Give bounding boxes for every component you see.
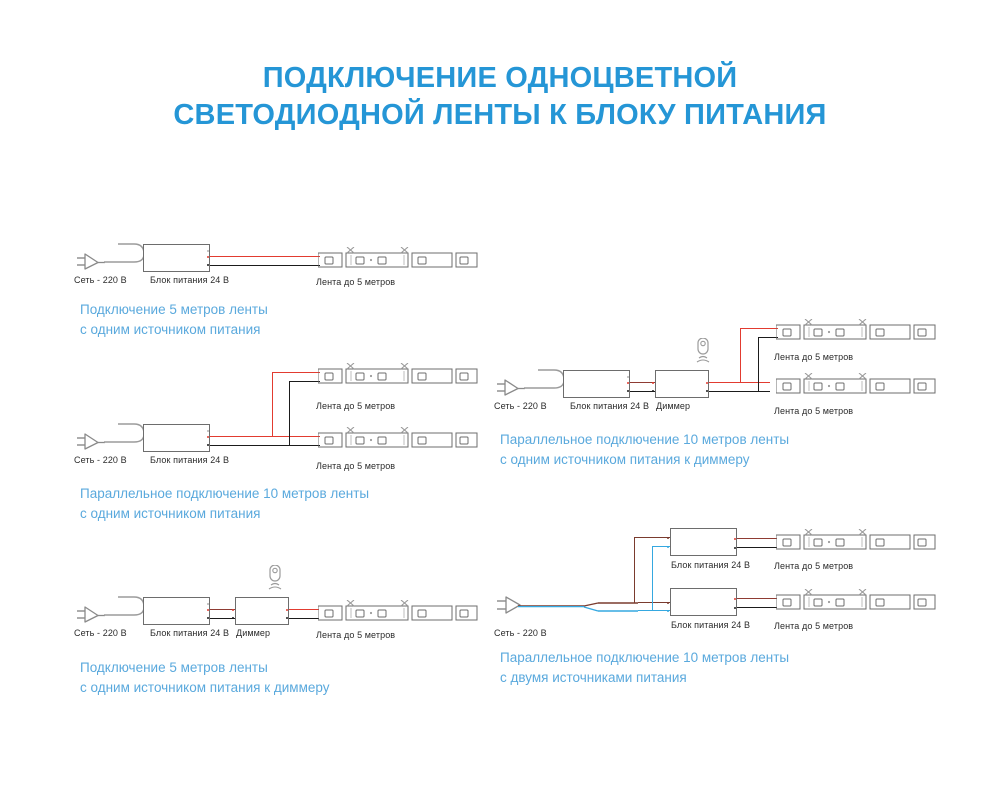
label-strip-upper: Лента до 5 метров [774, 561, 853, 571]
wire-negative-lower-strip [737, 607, 777, 608]
mains-split-cord [518, 596, 638, 625]
psu-box-lower [670, 588, 737, 616]
caption-line-2: с двумя источниками питания [500, 668, 789, 688]
wire-neutral-riser [652, 546, 653, 611]
psu-upper-terminal-out-minus [734, 547, 736, 549]
psu-lower-terminal-out-plus [734, 598, 736, 600]
caption-line-1: Параллельное подключение 10 метров ленты [500, 648, 789, 668]
diagram-parallel-10m-two-psu: Сеть - 220 В Блок питания 24 В [0, 0, 1000, 800]
diagram-caption: Параллельное подключение 10 метров ленты… [500, 648, 789, 689]
wire-positive-upper-strip [737, 538, 777, 539]
wire-positive-lower-strip [737, 598, 777, 599]
wire-phase-riser [634, 537, 635, 603]
psu-lower-terminal-out-minus [734, 607, 736, 609]
led-strip-lower [776, 589, 936, 609]
psu-box-upper [670, 528, 737, 556]
label-psu-upper: Блок питания 24 В [671, 560, 750, 570]
wire-negative-upper-strip [737, 547, 777, 548]
psu-lower-terminal-in-phase [667, 602, 669, 604]
poster-canvas: ПОДКЛЮЧЕНИЕ ОДНОЦВЕТНОЙ СВЕТОДИОДНОЙ ЛЕН… [0, 0, 1000, 800]
psu-upper-terminal-out-plus [734, 538, 736, 540]
led-strip-upper [776, 529, 936, 549]
psu-upper-terminal-in-phase [667, 537, 669, 539]
label-mains: Сеть - 220 В [494, 628, 547, 638]
psu-lower-terminal-in-neutral [667, 610, 669, 612]
psu-upper-terminal-in-neutral [667, 546, 669, 548]
label-strip-lower: Лента до 5 метров [774, 621, 853, 631]
label-psu-lower: Блок питания 24 В [671, 620, 750, 630]
